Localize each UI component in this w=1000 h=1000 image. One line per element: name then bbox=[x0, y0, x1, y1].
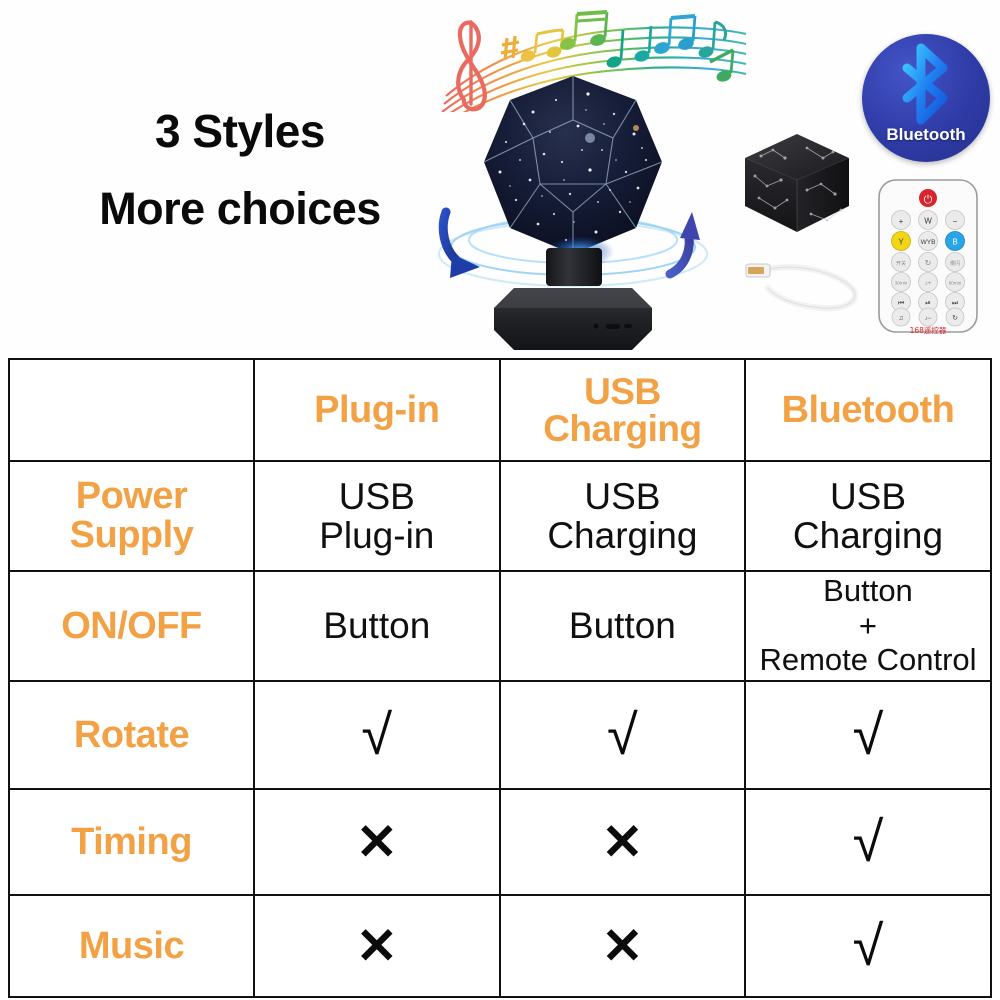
cell-on-off-plug-in: Button bbox=[254, 571, 500, 681]
cross-icon: ✕ bbox=[356, 817, 398, 867]
bluetooth-badge-label: Bluetooth bbox=[862, 125, 990, 145]
bluetooth-badge: Bluetooth bbox=[862, 34, 990, 162]
svg-text:WYB: WYB bbox=[921, 239, 936, 246]
row-label-music: Music bbox=[9, 895, 254, 997]
cell-power-supply-usb-charging-line1: USB bbox=[505, 477, 741, 516]
table-row: Power Supply USB Plug-in USB Charging US… bbox=[9, 461, 991, 571]
cell-power-supply-bluetooth-line1: USB bbox=[750, 477, 986, 516]
check-icon: √ bbox=[361, 707, 392, 763]
cell-on-off-bluetooth-plus: + bbox=[750, 609, 986, 644]
column-header-usb-charging-line2: Charging bbox=[505, 410, 741, 447]
svg-text:W: W bbox=[924, 217, 932, 226]
column-header-usb-charging-line1: USB bbox=[505, 373, 741, 410]
svg-text:60min: 60min bbox=[949, 281, 962, 286]
check-icon: √ bbox=[853, 707, 884, 763]
infographic-page: 3 Styles More choices bbox=[0, 0, 1000, 1000]
cell-on-off-bluetooth-line1: Button bbox=[750, 574, 986, 609]
headline-choices: More choices bbox=[40, 186, 440, 233]
row-label-power-supply-line1: Power bbox=[14, 477, 249, 516]
row-label-on-off: ON/OFF bbox=[9, 571, 254, 681]
ir-remote-control-icon: ⏻ + W − Y WYB B bbox=[873, 176, 983, 336]
svg-text:30min: 30min bbox=[895, 281, 908, 286]
cell-power-supply-plug-in: USB Plug-in bbox=[254, 461, 500, 571]
svg-text:⏮: ⏮ bbox=[898, 300, 904, 307]
cell-rotate-usb-charging: √ bbox=[500, 681, 746, 789]
feature-comparison-table: Plug-in USB Charging Bluetooth Power Sup… bbox=[8, 358, 992, 998]
column-header-bluetooth-label: Bluetooth bbox=[750, 391, 986, 429]
row-label-timing-text: Timing bbox=[14, 823, 249, 862]
check-icon: √ bbox=[853, 814, 884, 870]
cell-power-supply-plug-in-line1: USB bbox=[259, 477, 495, 516]
table-row: ON/OFF Button Button Button + Remote Con… bbox=[9, 571, 991, 681]
cross-icon: ✕ bbox=[356, 921, 398, 971]
rotate-arrow-right-icon bbox=[670, 212, 700, 274]
svg-text:−: − bbox=[953, 217, 958, 226]
cell-timing-bluetooth: √ bbox=[745, 789, 991, 895]
cell-music-plug-in: ✕ bbox=[254, 895, 500, 997]
cell-on-off-usb-charging: Button bbox=[500, 571, 746, 681]
cell-on-off-bluetooth: Button + Remote Control bbox=[745, 571, 991, 681]
headline-styles: 3 Styles bbox=[40, 108, 440, 156]
cell-timing-usb-charging: ✕ bbox=[500, 789, 746, 895]
cell-power-supply-usb-charging: USB Charging bbox=[500, 461, 746, 571]
svg-text:♫: ♫ bbox=[898, 315, 903, 322]
table-row: Rotate √ √ √ bbox=[9, 681, 991, 789]
cell-music-usb-charging: ✕ bbox=[500, 895, 746, 997]
svg-text:⏯: ⏯ bbox=[925, 300, 931, 307]
svg-text:⏻: ⏻ bbox=[924, 193, 933, 206]
check-icon: √ bbox=[607, 707, 638, 763]
svg-text:♪−: ♪− bbox=[925, 316, 932, 322]
bluetooth-rune-icon bbox=[862, 42, 990, 131]
remote-footer-text: 168遥控器 bbox=[910, 325, 947, 335]
cell-on-off-plug-in-text: Button bbox=[259, 606, 495, 645]
cell-power-supply-plug-in-line2: Plug-in bbox=[259, 516, 495, 555]
column-header-bluetooth: Bluetooth bbox=[745, 359, 991, 461]
svg-text:B: B bbox=[952, 238, 957, 247]
row-label-power-supply-line2: Supply bbox=[14, 516, 249, 555]
row-label-power-supply: Power Supply bbox=[9, 461, 254, 571]
cell-power-supply-bluetooth: USB Charging bbox=[745, 461, 991, 571]
row-label-rotate: Rotate bbox=[9, 681, 254, 789]
constellation-gift-box-icon bbox=[737, 128, 855, 240]
cell-music-bluetooth: √ bbox=[745, 895, 991, 997]
row-label-on-off-text: ON/OFF bbox=[14, 607, 249, 646]
cell-timing-plug-in: ✕ bbox=[254, 789, 500, 895]
table-header-row: Plug-in USB Charging Bluetooth bbox=[9, 359, 991, 461]
rotate-arrow-left-icon bbox=[443, 212, 480, 278]
check-icon: √ bbox=[853, 918, 884, 974]
cell-on-off-usb-charging-text: Button bbox=[505, 606, 741, 645]
cell-rotate-bluetooth: √ bbox=[745, 681, 991, 789]
column-header-plug-in-label: Plug-in bbox=[259, 391, 495, 429]
usb-cable-icon bbox=[742, 248, 872, 320]
column-header-plug-in: Plug-in bbox=[254, 359, 500, 461]
column-header-usb-charging: USB Charging bbox=[500, 359, 746, 461]
cross-icon: ✕ bbox=[601, 921, 643, 971]
row-label-timing: Timing bbox=[9, 789, 254, 895]
svg-text:♪+: ♪+ bbox=[925, 281, 932, 287]
cell-power-supply-usb-charging-line2: Charging bbox=[505, 516, 741, 555]
table-row: Music ✕ ✕ √ bbox=[9, 895, 991, 997]
cell-power-supply-bluetooth-line2: Charging bbox=[750, 516, 986, 555]
svg-text:+: + bbox=[899, 217, 904, 226]
svg-text:⏭: ⏭ bbox=[952, 300, 959, 307]
cell-on-off-bluetooth-remote-control: Remote Control bbox=[750, 643, 986, 678]
row-label-music-text: Music bbox=[14, 927, 249, 966]
star-projector-lamp-image bbox=[438, 62, 708, 358]
svg-text:慢闪: 慢闪 bbox=[950, 260, 960, 267]
hero-product-banner: 3 Styles More choices bbox=[0, 0, 1000, 358]
svg-text:Y: Y bbox=[898, 238, 904, 247]
table-row: Timing ✕ ✕ √ bbox=[9, 789, 991, 895]
svg-text:开关: 开关 bbox=[896, 260, 906, 267]
svg-text:↻: ↻ bbox=[952, 315, 958, 322]
cell-rotate-plug-in: √ bbox=[254, 681, 500, 789]
cross-icon: ✕ bbox=[601, 817, 643, 867]
svg-text:↻: ↻ bbox=[925, 259, 932, 268]
row-label-rotate-text: Rotate bbox=[14, 716, 249, 755]
table-corner-cell bbox=[9, 359, 254, 461]
